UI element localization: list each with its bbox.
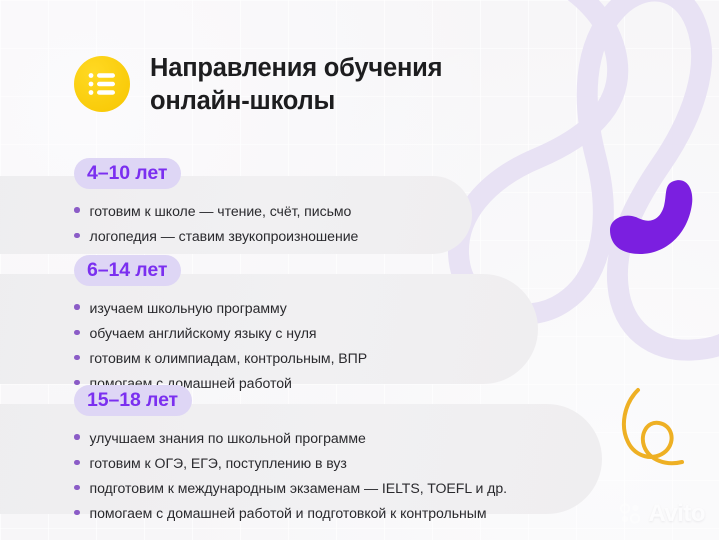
bullet-dot-icon [74,485,80,491]
bullet-dot-icon [74,355,80,361]
list-item: помогаем с домашней работой и подготовко… [74,501,507,526]
list-item-label: помогаем с домашней работой и подготовко… [90,506,487,520]
list-item: готовим к ОГЭ, ЕГЭ, поступлению в вуз [74,451,507,476]
orange-cursive-squiggle [610,378,700,478]
bullet-dot-icon [74,207,80,213]
bullet-dot-icon [74,233,80,239]
list-item: улучшаем знания по школьной программе [74,425,507,450]
avito-watermark: Avito [619,500,705,528]
list-item-label: подготовим к международным экзаменам — I… [90,481,507,495]
section-group-3: 15–18 лет улучшаем знания по школьной пр… [74,385,507,526]
age-badge-1: 4–10 лет [74,158,181,189]
purple-hook-shape [596,172,700,260]
bullet-dot-icon [74,434,80,440]
poster-header: Направления обучения онлайн-школы [74,52,442,117]
bullet-dot-icon [74,460,80,466]
age-badge-3: 15–18 лет [74,385,192,416]
section-group-1: 4–10 лет готовим к школе — чтение, счёт,… [74,158,358,249]
bulleted-list-icon [74,56,130,112]
list-item-label: готовим к олимпиадам, контрольным, ВПР [90,351,368,365]
list-item: подготовим к международным экзаменам — I… [74,476,507,501]
bullet-dot-icon [74,510,80,516]
list-item-label: логопедия — ставим звукопроизношение [90,229,359,243]
avito-logo-icon [619,502,643,526]
list-item: готовим к школе — чтение, счёт, письмо [74,198,358,223]
list-item-label: улучшаем знания по школьной программе [90,431,366,445]
feature-list-1: готовим к школе — чтение, счёт, письмо л… [74,198,358,248]
list-item: изучаем школьную программу [74,295,367,320]
age-badge-2: 6–14 лет [74,255,181,286]
list-item: готовим к олимпиадам, контрольным, ВПР [74,346,367,371]
list-item-label: готовим к школе — чтение, счёт, письмо [90,204,352,218]
feature-list-3: улучшаем знания по школьной программе го… [74,425,507,525]
list-item: обучаем английскому языку с нуля [74,321,367,346]
section-group-2: 6–14 лет изучаем школьную программу обуч… [74,255,367,396]
list-item: логопедия — ставим звукопроизношение [74,224,358,249]
list-item-label: изучаем школьную программу [90,301,287,315]
avito-watermark-label: Avito [648,500,705,528]
bullet-dot-icon [74,304,80,310]
list-item-label: обучаем английскому языку с нуля [90,326,317,340]
list-item-label: готовим к ОГЭ, ЕГЭ, поступлению в вуз [90,456,347,470]
bullet-dot-icon [74,330,80,336]
poster-canvas: Направления обучения онлайн-школы 4–10 л… [0,0,719,540]
page-title: Направления обучения онлайн-школы [150,52,442,117]
feature-list-2: изучаем школьную программу обучаем англи… [74,295,367,395]
